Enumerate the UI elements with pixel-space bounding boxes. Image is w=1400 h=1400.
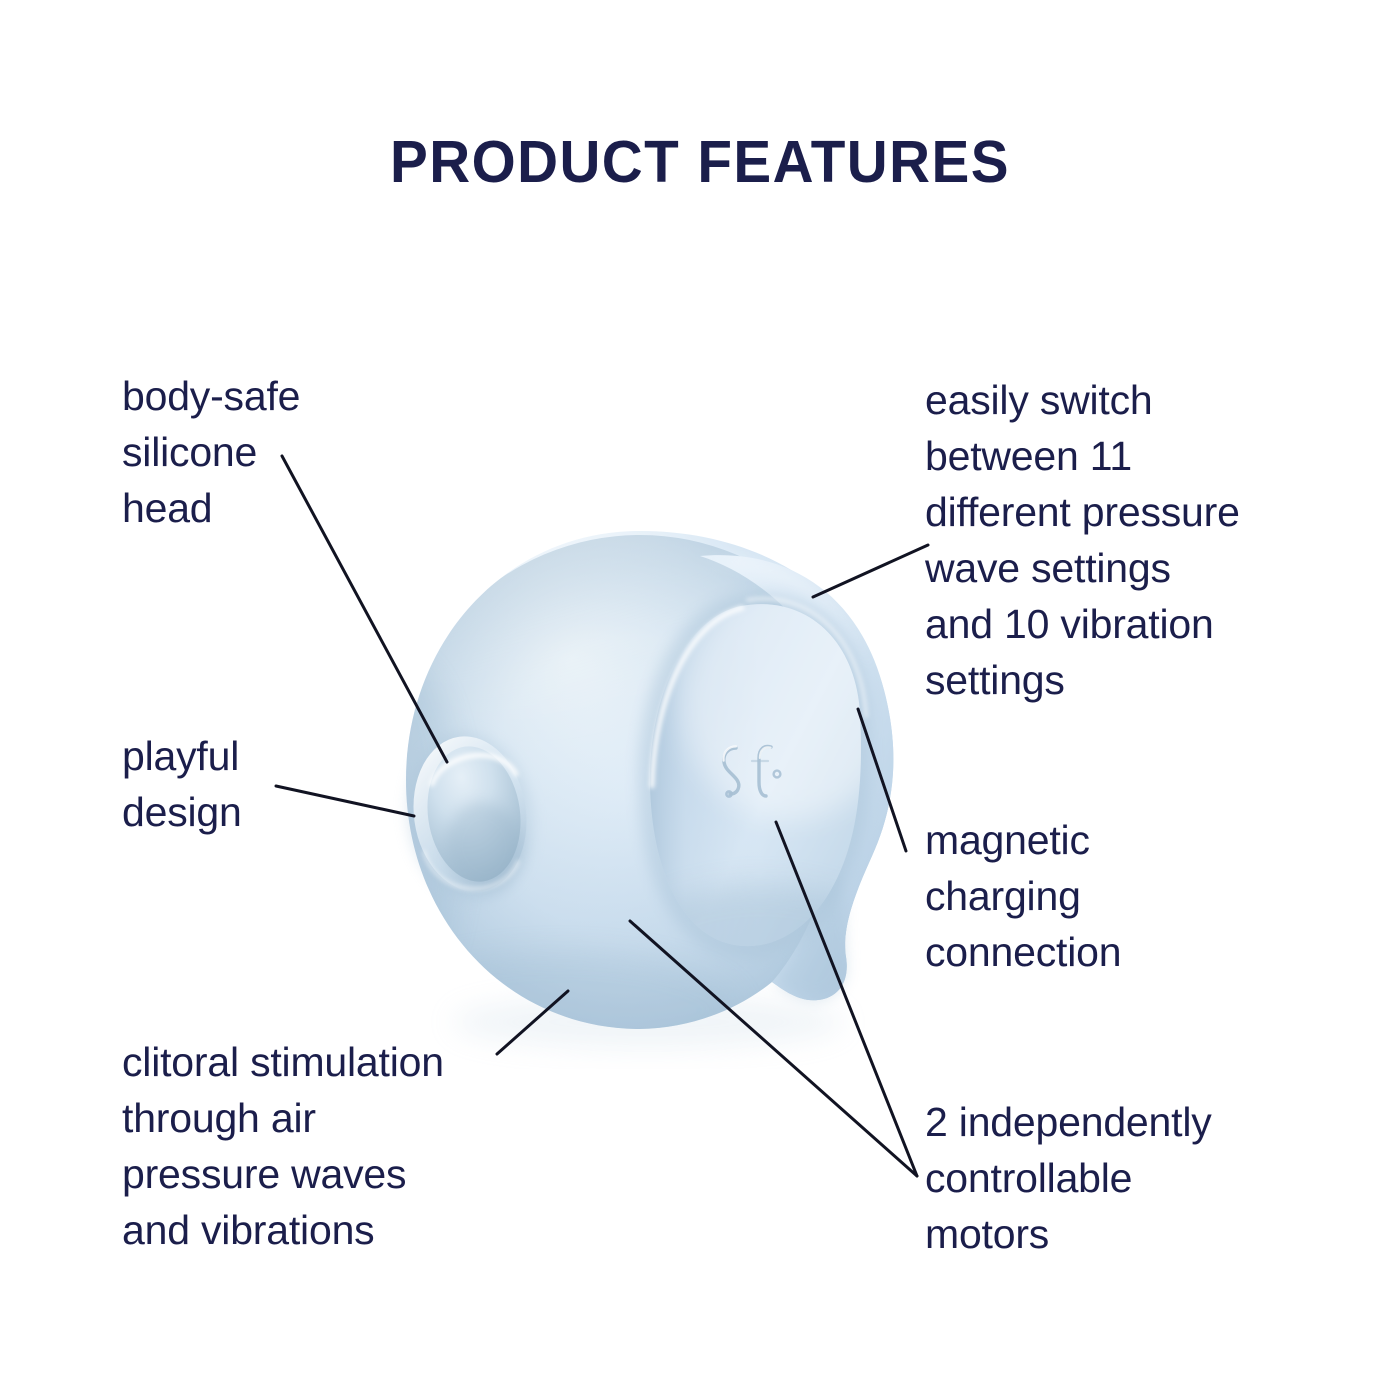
lobe-tail-shadow [776, 860, 847, 1000]
recess-rim-highlight-top [748, 599, 866, 716]
callout-controllable-motors: 2 independently controllable motors [925, 1094, 1285, 1262]
product-body [348, 502, 893, 1068]
leader-pressure-wave-settings [813, 545, 928, 597]
satisfyer-logo-emboss [723, 746, 780, 796]
product-right-lobe [700, 555, 893, 1000]
page-title: PRODUCT FEATURES [28, 128, 1372, 196]
product-recess-plate [630, 580, 900, 1005]
bore-interior [419, 740, 529, 887]
leader-controllable-motors-b [776, 822, 917, 1176]
callout-playful-design: playful design [122, 728, 422, 840]
body-lower-shading [390, 535, 890, 1045]
recess-surface [650, 604, 861, 946]
bore-bottom-highlight [424, 852, 518, 889]
recess-bottom-shadow [630, 885, 890, 1005]
page-canvas: PRODUCT FEATURES [0, 0, 1400, 1400]
recess-rim-highlight [652, 608, 742, 786]
callout-body-safe-head: body-safe silicone head [122, 368, 452, 536]
recess-left-wall [640, 590, 760, 970]
recess-outer-lip [638, 594, 871, 959]
leader-magnetic-charging [858, 709, 906, 851]
bore-depth-shadow [440, 797, 528, 895]
callout-pressure-wave-settings: easily switch between 11 different press… [925, 372, 1305, 708]
callout-clitoral-stimulation: clitoral stimulation through air pressur… [122, 1034, 552, 1258]
bore-top-highlight [432, 755, 516, 784]
leader-controllable-motors-a [630, 921, 917, 1176]
callout-magnetic-charging: magnetic charging connection [925, 812, 1255, 980]
bore-rim [404, 729, 537, 899]
lobe-rim-highlight [706, 560, 878, 688]
recess-sheen [680, 580, 900, 820]
